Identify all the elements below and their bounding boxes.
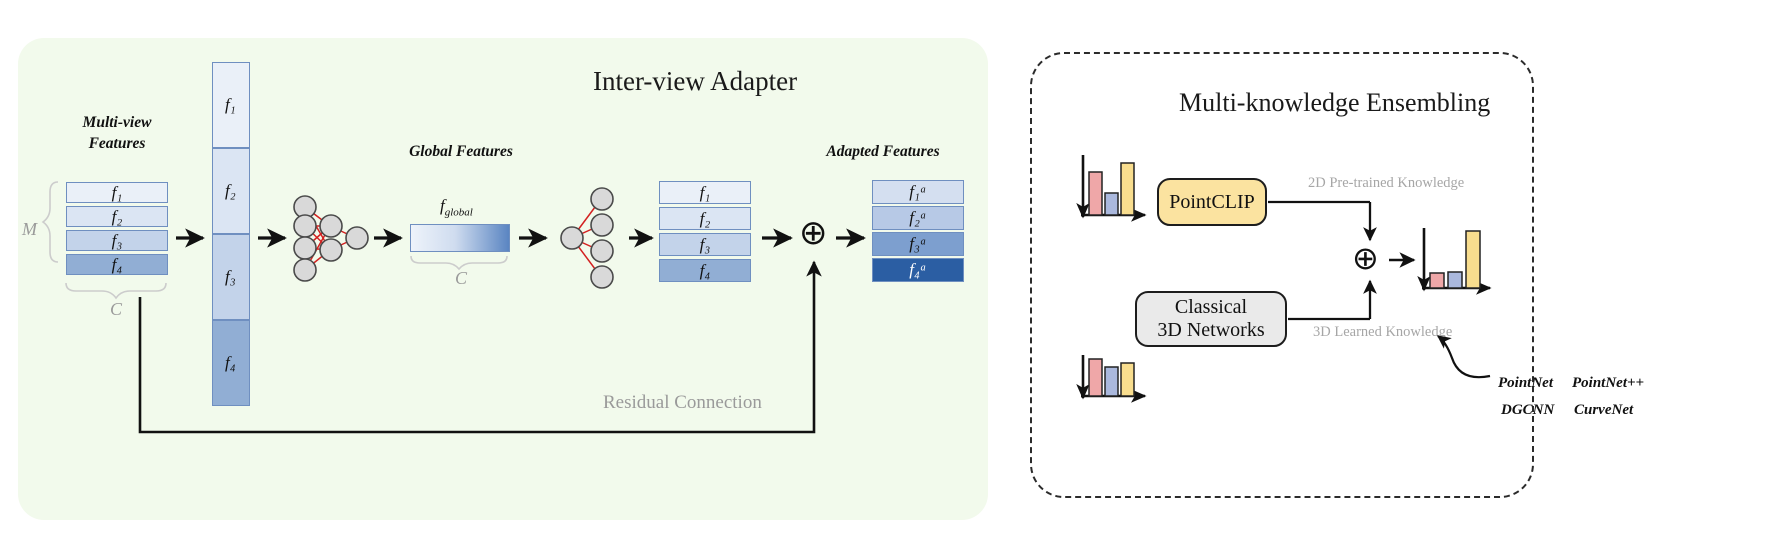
concat-block-4: f₄ — [212, 320, 250, 406]
label-3d-learned-knowledge: 3D Learned Knowledge — [1313, 324, 1452, 341]
adapted-block-2: f₂ᵃ — [872, 206, 964, 230]
inter-view-adapter-panel — [18, 38, 988, 520]
adapted-block-1: f₁ᵃ — [872, 180, 964, 204]
pointclip-box[interactable]: PointCLIP — [1157, 178, 1267, 226]
network-name-pointnet: PointNet — [1498, 375, 1553, 392]
intermediate-block-4: f₄ — [659, 259, 751, 282]
adapted-block-3: f₃ᵃ — [872, 232, 964, 256]
ensemble-sum-icon: ⊕ — [1352, 242, 1379, 274]
figure-canvas: Inter-view Adapter Multi-view Features M… — [0, 0, 1766, 550]
dim-label-C-global: C — [455, 268, 467, 289]
intermediate-block-2: f₂ — [659, 207, 751, 230]
classical-label-line1: Classical — [1175, 296, 1247, 319]
classical-label-line2: 3D Networks — [1157, 319, 1264, 342]
multi-knowledge-ensembling-panel — [1030, 52, 1534, 498]
multiview-block-2: f₂ — [66, 206, 168, 227]
concat-block-3: f₃ — [212, 234, 250, 320]
network-name-dgcnn: DGCNN — [1501, 402, 1554, 419]
classical-3d-networks-box[interactable]: Classical 3D Networks — [1135, 291, 1287, 347]
caption-multiview-line2: Features — [89, 135, 146, 152]
caption-multiview-line1: Multi-view — [83, 114, 152, 131]
label-2d-pretrained-knowledge: 2D Pre-trained Knowledge — [1308, 175, 1464, 192]
ensemble-panel-title: Multi-knowledge Ensembling — [1179, 88, 1490, 118]
caption-adapted-features: Adapted Features — [813, 142, 953, 163]
intermediate-block-1: f₁ — [659, 181, 751, 204]
residual-sum-icon: ⊕ — [799, 217, 828, 251]
dim-label-M: M — [22, 219, 37, 240]
global-feature-label: fglobal — [440, 196, 473, 218]
adapter-panel-title: Inter-view Adapter — [593, 66, 797, 97]
adapted-block-4: f₄ᵃ — [872, 258, 964, 282]
network-name-pointnetpp: PointNet++ — [1572, 375, 1644, 392]
concat-block-1: f₁ — [212, 62, 250, 148]
network-name-curvenet: CurveNet — [1574, 402, 1633, 419]
global-feature-bar — [410, 224, 510, 252]
intermediate-block-3: f₃ — [659, 233, 751, 256]
residual-connection-label: Residual Connection — [603, 392, 762, 414]
global-sub: global — [445, 206, 473, 218]
caption-global-features: Global Features — [396, 142, 526, 163]
dim-label-C-left: C — [110, 299, 122, 320]
concat-block-2: f₂ — [212, 148, 250, 234]
multiview-block-3: f₃ — [66, 230, 168, 251]
multiview-block-4: f₄ — [66, 254, 168, 275]
caption-multiview-features: Multi-view Features — [52, 113, 182, 155]
multiview-block-1: f₁ — [66, 182, 168, 203]
